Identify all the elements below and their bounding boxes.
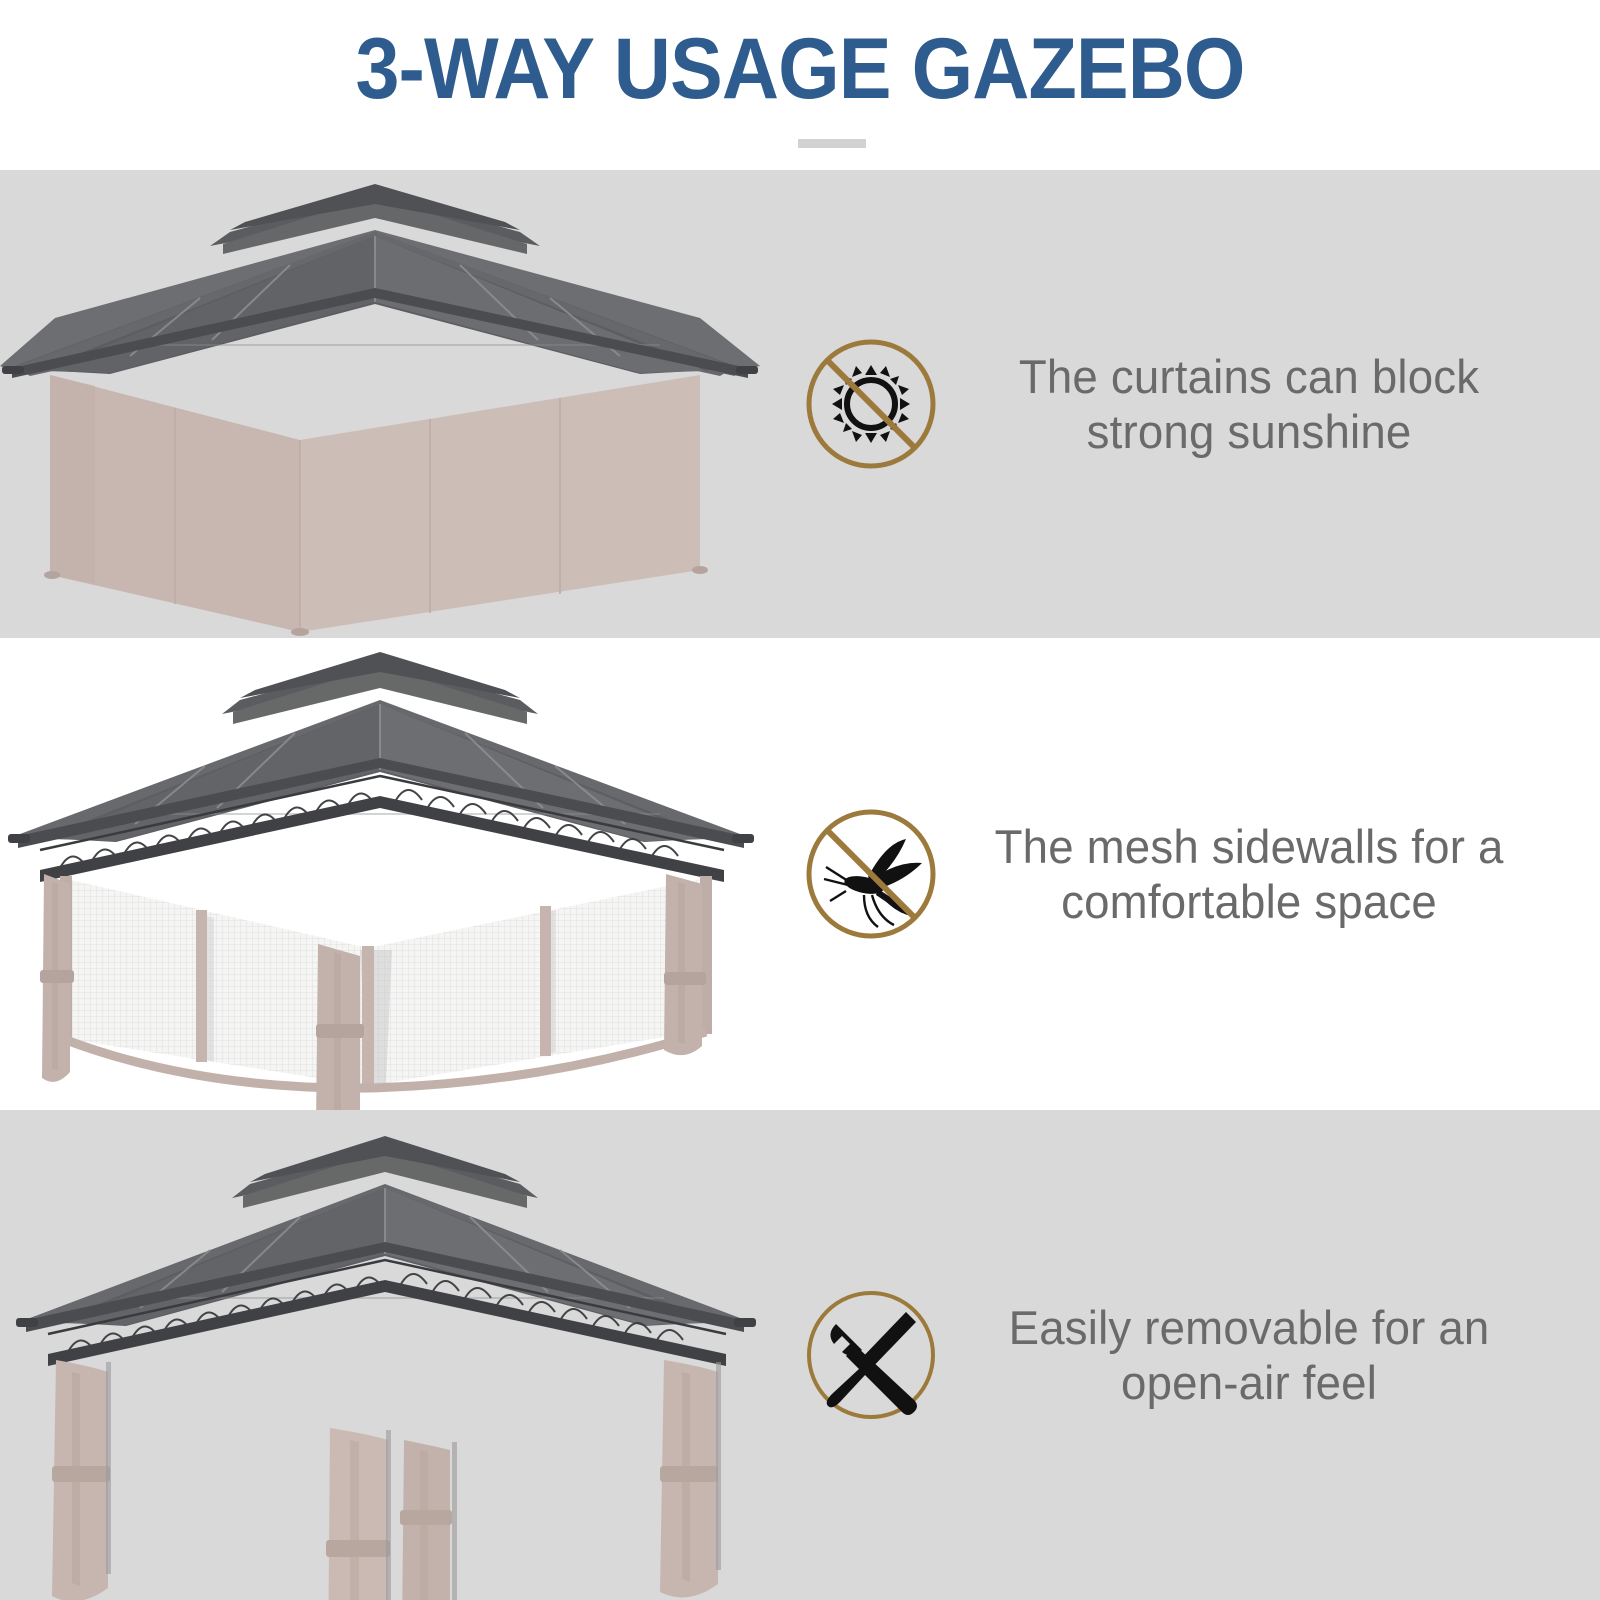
feature-curtains: The curtains can block strong sunshine — [790, 170, 1600, 638]
no-mosquito-icon — [802, 805, 940, 943]
feature-line: The curtains can block — [976, 349, 1523, 404]
feature-open-air: Easily removable for an open-air feel — [790, 1110, 1600, 1600]
title-divider-bar — [798, 139, 866, 148]
feature-open-air-text: Easily removable for an open-air feel — [976, 1300, 1591, 1411]
feature-line: open-air feel — [976, 1355, 1523, 1410]
gazebo-open-air-curtains-tied — [0, 1110, 760, 1600]
gazebo-open-illustration — [0, 1110, 760, 1600]
gazebo-mesh-illustration — [0, 638, 760, 1110]
feature-line: The mesh sidewalls for a — [976, 819, 1523, 874]
feature-line: comfortable space — [976, 874, 1523, 929]
gazebo-with-closed-curtains — [0, 170, 760, 638]
page-header: 3-WAY USAGE GAZEBO — [0, 0, 1600, 170]
no-sun-icon — [802, 335, 940, 473]
feature-line: Easily removable for an — [976, 1300, 1523, 1355]
page-title: 3-WAY USAGE GAZEBO — [64, 26, 1536, 112]
gazebo-with-mesh-sidewalls — [0, 638, 760, 1110]
feature-mesh: The mesh sidewalls for a comfortable spa… — [790, 638, 1600, 1110]
gazebo-closed-illustration — [0, 170, 760, 638]
feature-line: strong sunshine — [976, 404, 1523, 459]
panel-curtains: The curtains can block strong sunshine — [0, 170, 1600, 638]
tools-icon — [802, 1286, 940, 1424]
feature-curtains-text: The curtains can block strong sunshine — [976, 349, 1591, 460]
panel-mesh: The mesh sidewalls for a comfortable spa… — [0, 638, 1600, 1110]
panel-open-air: Easily removable for an open-air feel — [0, 1110, 1600, 1600]
feature-mesh-text: The mesh sidewalls for a comfortable spa… — [976, 819, 1591, 930]
